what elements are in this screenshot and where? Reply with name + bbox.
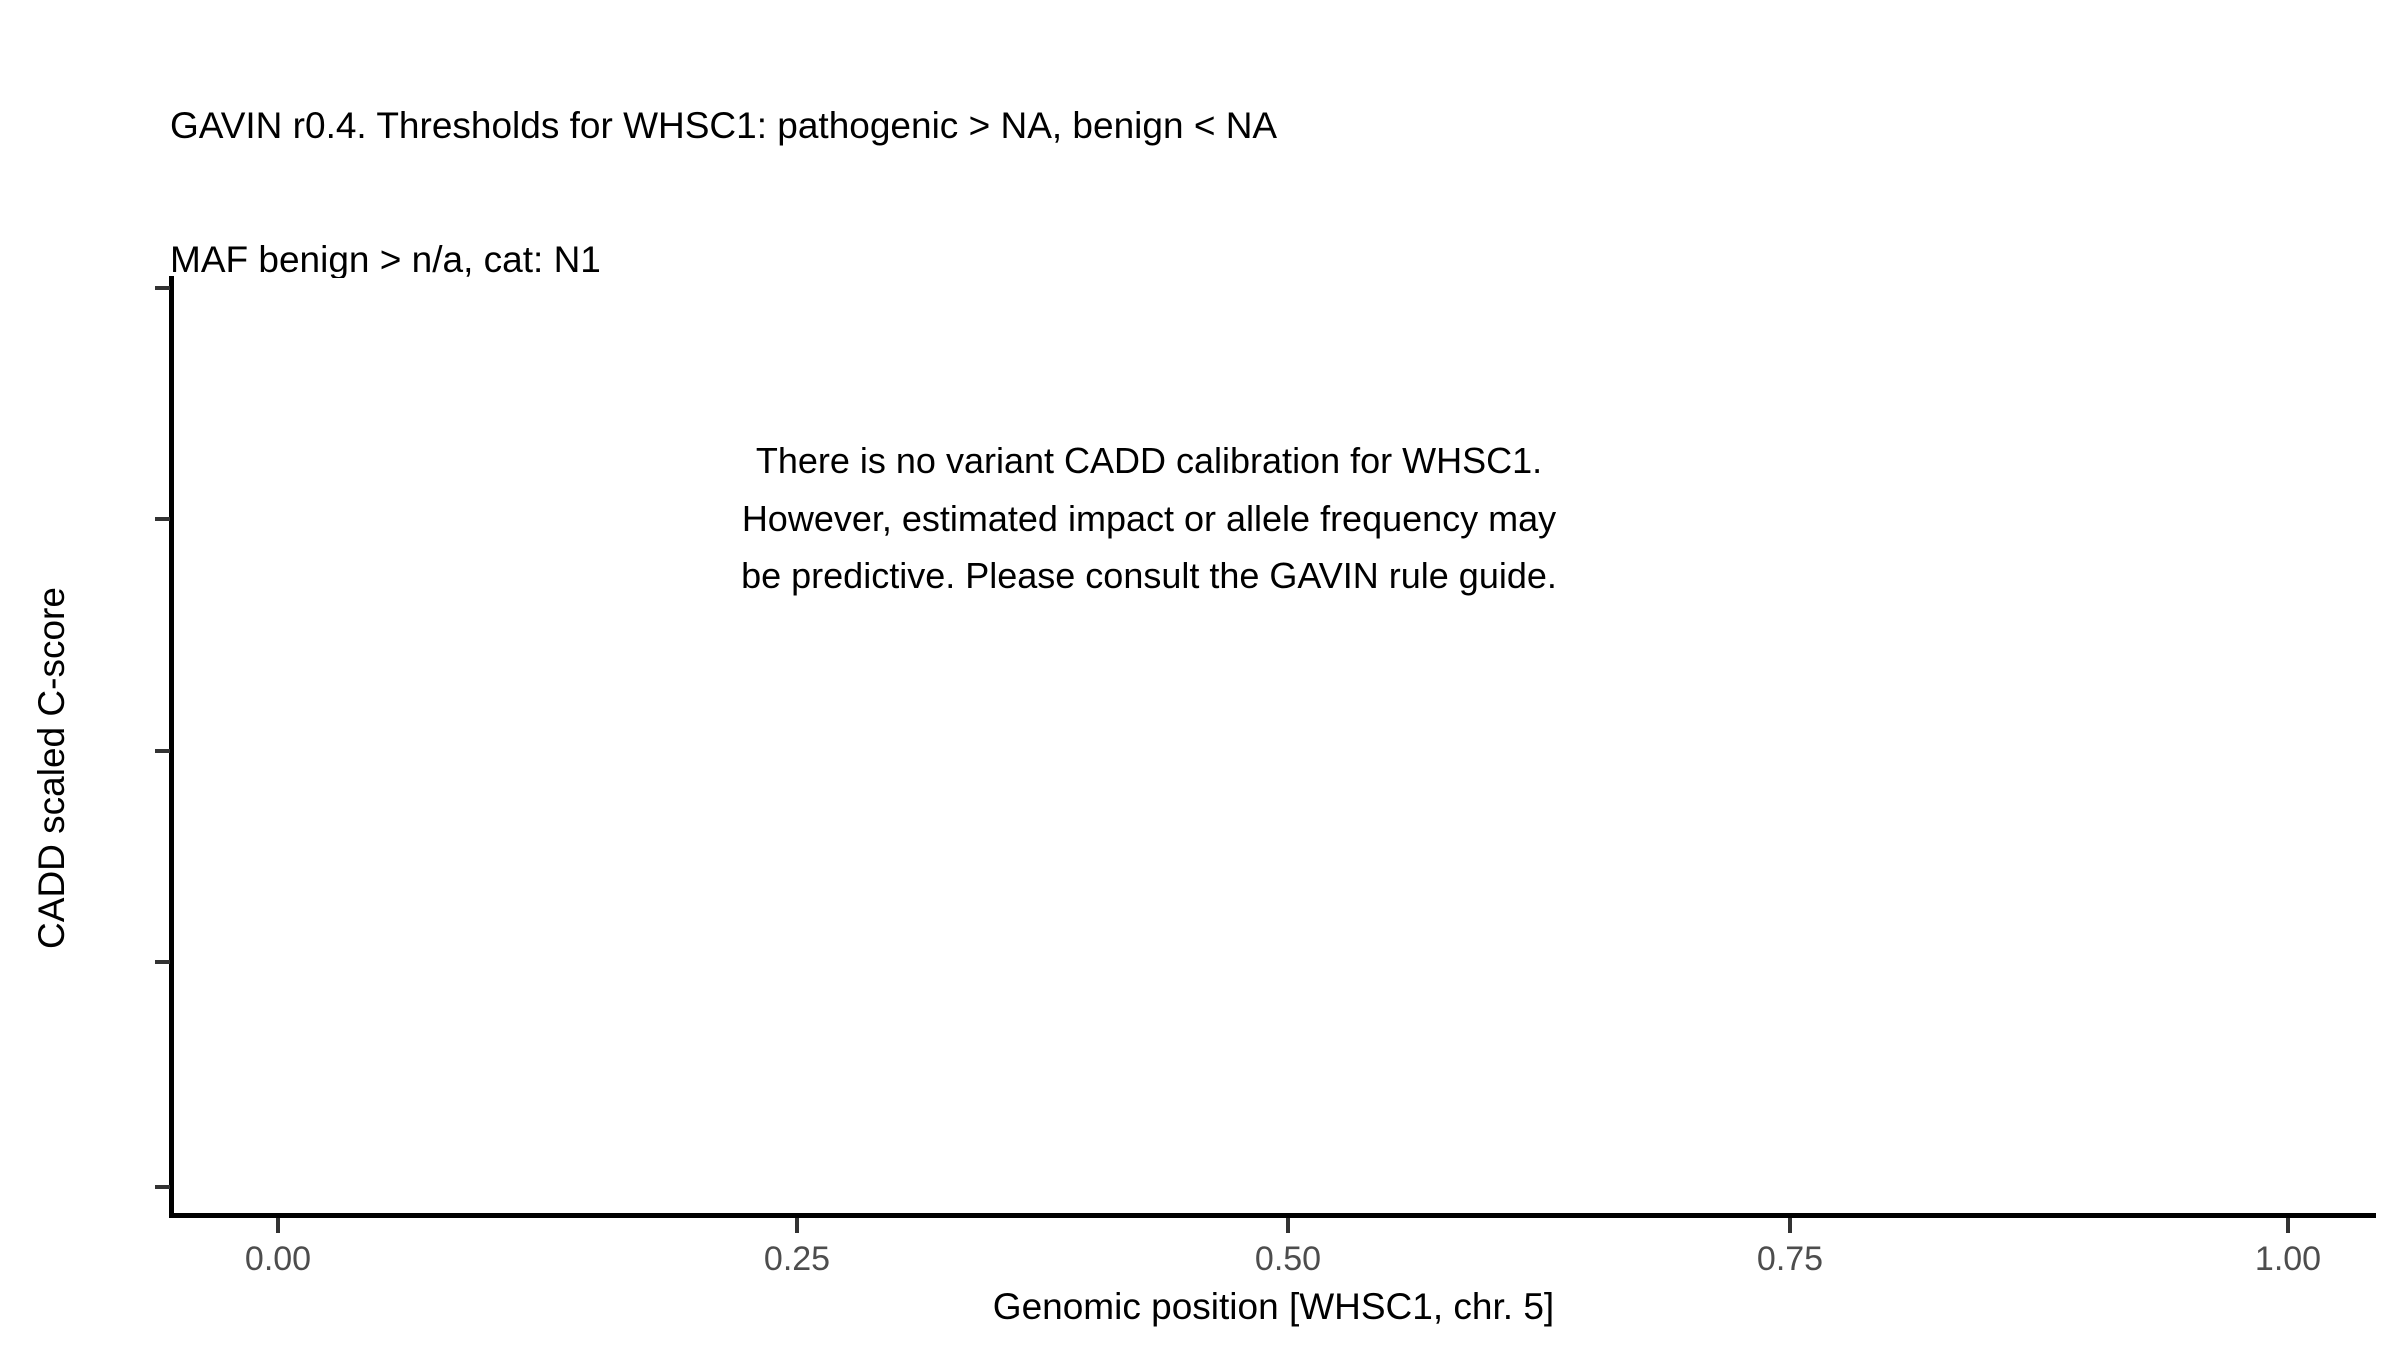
x-tick-mark [795,1218,799,1233]
annotation-line-1: There is no variant CADD calibration for… [452,432,1846,490]
no-calibration-annotation: There is no variant CADD calibration for… [452,432,1846,605]
x-tick-mark [1788,1218,1792,1233]
x-tick-label: 0.25 [677,1240,917,1279]
chart-title-line-2: MAF benign > n/a, cat: N1 [170,238,2270,283]
y-axis-title: CADD scaled C-score [31,298,73,1238]
chart-figure: GAVIN r0.4. Thresholds for WHSC1: pathog… [0,0,2400,1350]
annotation-line-3: be predictive. Please consult the GAVIN … [452,547,1846,605]
x-axis-line [169,1213,2376,1218]
y-tick-mark [155,286,170,290]
y-axis: 1.00 0.75 0.50 0.25 0.00 [0,0,172,1350]
y-tick-mark [155,749,170,753]
x-axis-title: Genomic position [WHSC1, chr. 5] [172,1286,2375,1328]
x-tick-label: 0.50 [1168,1240,1408,1279]
y-tick-mark [155,1185,170,1189]
annotation-line-2: However, estimated impact or allele freq… [452,490,1846,548]
x-tick-label: 1.00 [2168,1240,2400,1279]
y-tick-mark [155,960,170,964]
plot-panel: There is no variant CADD calibration for… [172,278,2375,1216]
x-tick-mark [1286,1218,1290,1233]
x-tick-label: 0.75 [1670,1240,1910,1279]
x-tick-mark [276,1218,280,1233]
x-tick-label: 0.00 [158,1240,398,1279]
y-tick-mark [155,517,170,521]
chart-title-line-1: GAVIN r0.4. Thresholds for WHSC1: pathog… [170,104,2270,149]
x-tick-mark [2286,1218,2290,1233]
